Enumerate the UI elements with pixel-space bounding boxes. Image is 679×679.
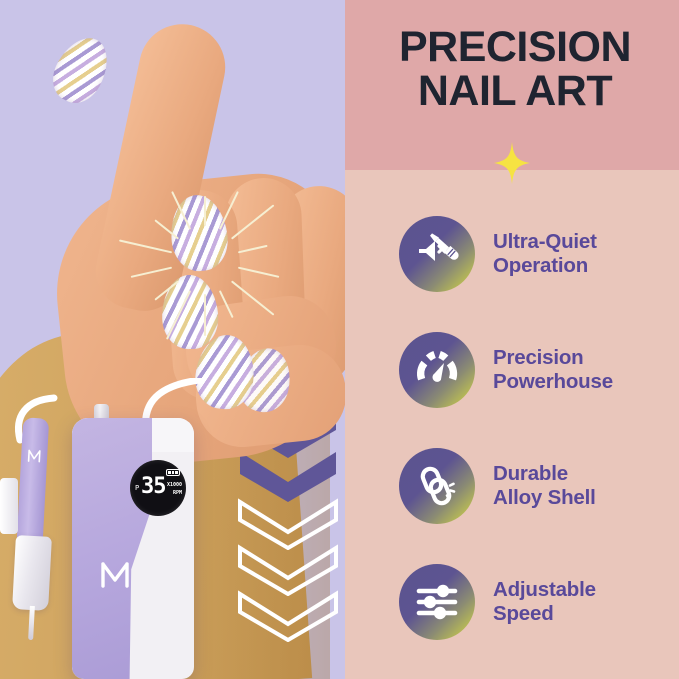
title-line-1: PRECISION — [399, 23, 631, 71]
product-infographic: P 35 X1000 RPM PRECISIONNAIL ART — [0, 0, 679, 679]
feature-label-line-1: Ultra-Quiet — [493, 230, 597, 253]
m-monogram-logo-icon — [98, 560, 132, 590]
display-speed-value: 35 — [141, 476, 166, 498]
display-unit: X1000 RPM — [167, 482, 182, 497]
slider-controls-icon — [399, 564, 475, 640]
battery-full-icon — [166, 469, 180, 476]
product-photo-panel: P 35 X1000 RPM — [0, 0, 345, 679]
feature-item-durable-alloy-shell: DurableAlloy Shell — [345, 428, 679, 544]
feature-item-ultra-quiet: Ultra-QuietOperation — [345, 196, 679, 312]
manicured-nail — [44, 29, 118, 112]
feature-label-line-2: Alloy Shell — [493, 486, 596, 509]
features-panel: PRECISIONNAIL ART — [345, 0, 679, 679]
device-display: P 35 X1000 RPM — [130, 460, 186, 516]
feature-label-line-2: Powerhouse — [493, 370, 613, 393]
feature-label: PrecisionPowerhouse — [493, 346, 613, 394]
mute-speaker-nail-drill-icon — [399, 216, 475, 292]
title-line-2: NAIL ART — [418, 67, 612, 115]
four-point-star-icon — [494, 142, 530, 184]
m-monogram-logo-icon — [26, 448, 43, 465]
feature-list: Ultra-QuietOperation PrecisionPowerhou — [345, 196, 679, 660]
chevron-filled — [236, 448, 340, 502]
feature-label-line-1: Durable — [493, 462, 568, 485]
feature-label: AdjustableSpeed — [493, 578, 596, 626]
feature-item-adjustable-speed: AdjustableSpeed — [345, 544, 679, 660]
feature-label-line-1: Precision — [493, 346, 584, 369]
handpiece-chuck — [12, 535, 52, 611]
feature-label-line-2: Speed — [493, 602, 554, 625]
display-unit-multiplier: X1000 — [167, 482, 182, 488]
device-purple-shell — [72, 418, 152, 679]
nail-drill-control-unit[interactable]: P 35 X1000 RPM — [72, 418, 194, 679]
feature-label: DurableAlloy Shell — [493, 462, 596, 510]
display-unit-rpm: RPM — [173, 490, 182, 496]
display-mode-label: P — [135, 484, 139, 492]
page-title: PRECISIONNAIL ART — [363, 26, 667, 114]
feature-label-line-1: Adjustable — [493, 578, 596, 601]
chain-link-icon — [399, 448, 475, 524]
feature-item-precision-powerhouse: PrecisionPowerhouse — [345, 312, 679, 428]
handpiece-clip — [0, 478, 18, 534]
feature-label: Ultra-QuietOperation — [493, 230, 597, 278]
chevron-outline — [236, 588, 340, 642]
feature-label-line-2: Operation — [493, 254, 588, 277]
speedometer-gauge-icon — [399, 332, 475, 408]
